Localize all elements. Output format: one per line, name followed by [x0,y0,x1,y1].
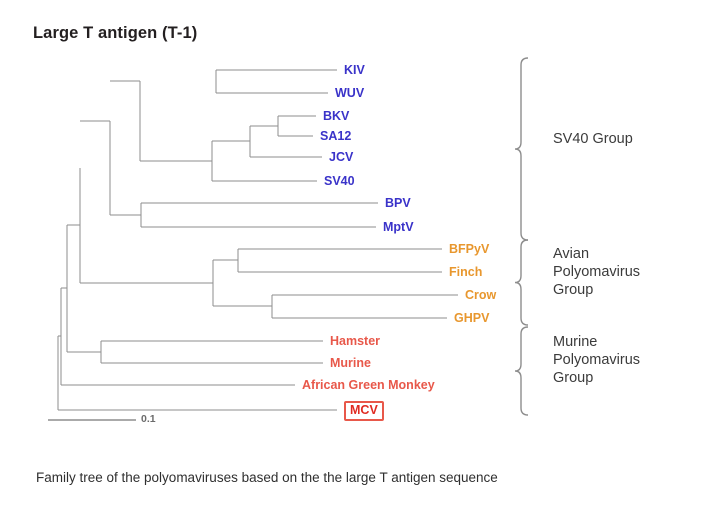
figure-caption: Family tree of the polyomaviruses based … [36,470,498,485]
figure-canvas: Large T antigen (T-1) KIVWUVBKVSA12JCVSV… [0,0,718,512]
scale-bar-value: 0.1 [141,413,156,425]
scale-bar [0,0,718,460]
